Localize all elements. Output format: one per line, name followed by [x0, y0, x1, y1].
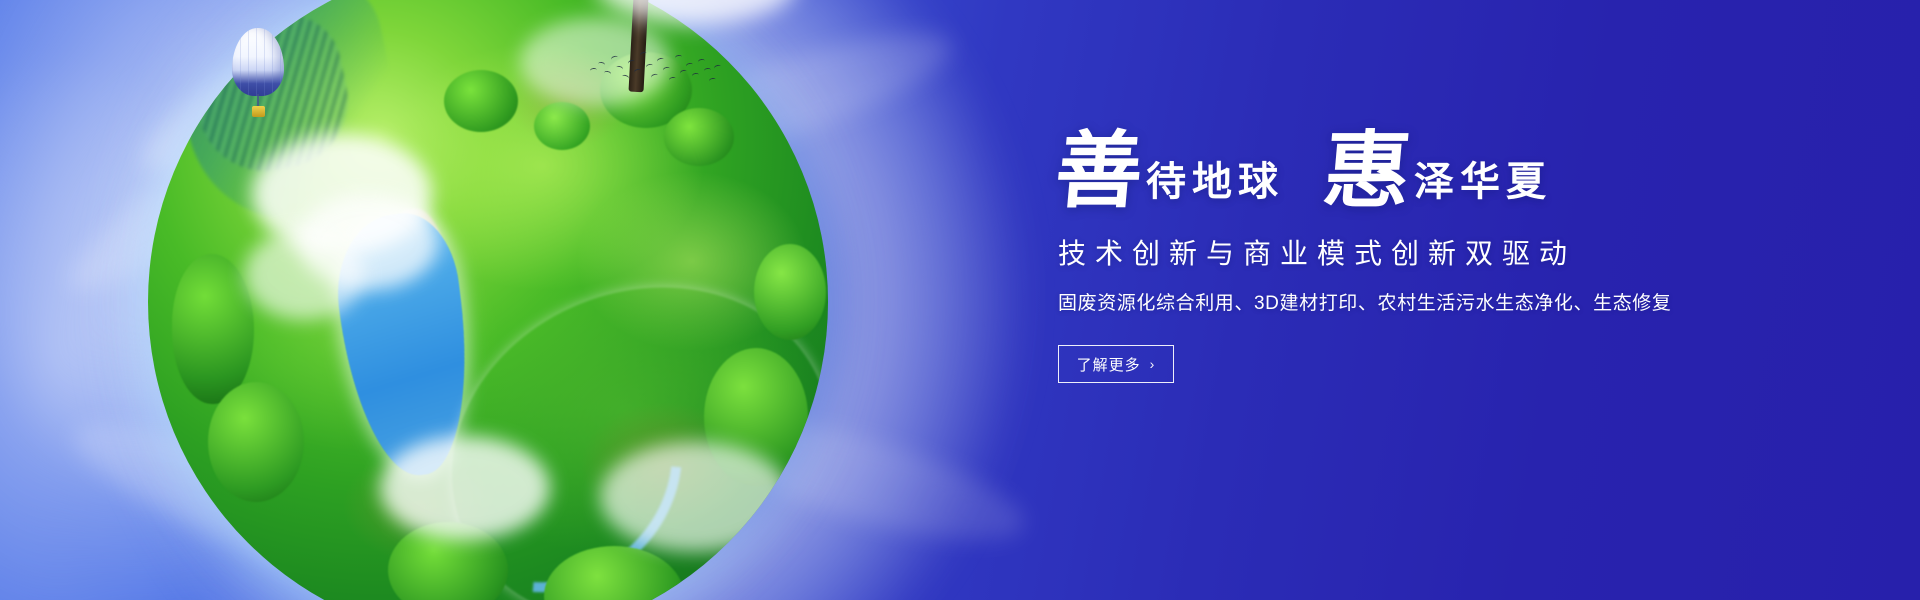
learn-more-label: 了解更多: [1077, 354, 1141, 375]
chevron-right-icon: ›: [1150, 357, 1156, 371]
mountain-range: [162, 0, 415, 235]
bird-icon: [713, 64, 721, 71]
balloon-envelope: [232, 28, 284, 96]
bird-icon: [598, 61, 606, 67]
bird-icon: [656, 57, 664, 64]
cloud-streak: [695, 396, 1034, 564]
headline-group-1: 善 待地球: [1058, 132, 1284, 211]
globe-glow: [88, 0, 888, 600]
river-branch: [367, 280, 735, 600]
cloud: [298, 194, 438, 290]
cloud: [600, 442, 790, 552]
bird-icon: [692, 72, 700, 78]
cloud-streak: [154, 329, 446, 534]
bird-icon: [645, 63, 653, 70]
bird-icon: [610, 55, 618, 62]
hero-banner: 善 待地球 惠 泽华夏 技术创新与商业模式创新双驱动 固废资源化综合利用、3D建…: [0, 0, 1920, 600]
bird-icon: [669, 76, 677, 82]
tree-canopy: [754, 244, 826, 340]
bird-icon: [604, 70, 612, 76]
bird-icon: [650, 73, 658, 80]
bird-icon: [621, 74, 629, 81]
bird-icon: [709, 77, 717, 83]
tree-canopy: [444, 70, 518, 132]
hero-content: 善 待地球 惠 泽华夏 技术创新与商业模式创新双驱动 固废资源化综合利用、3D建…: [1058, 132, 1818, 383]
cloud: [244, 230, 364, 320]
headline-lead-char: 惠: [1320, 131, 1414, 211]
cloud-streak: [123, 0, 536, 203]
tree-canopy: [544, 546, 684, 600]
bird-icon: [639, 51, 647, 58]
bird-icon: [685, 62, 693, 69]
bird-icon: [675, 54, 683, 60]
headline-group-2: 惠 泽华夏: [1326, 132, 1552, 211]
hero-description: 固废资源化综合利用、3D建材打印、农村生活污水生态净化、生态修复: [1058, 292, 1818, 317]
hot-air-balloon: [232, 28, 284, 120]
headline-rest-chars: 待地球: [1146, 162, 1284, 202]
bird-icon: [627, 59, 635, 66]
bird-flock: [588, 44, 718, 90]
bird-icon: [662, 66, 670, 73]
bird-icon: [679, 69, 687, 76]
balloon-basket: [252, 106, 265, 117]
headline-lead-char: 善: [1052, 131, 1146, 211]
bird-icon: [615, 65, 623, 72]
river: [401, 232, 828, 600]
cloud-halo: [60, 0, 1060, 600]
tree-canopy: [208, 382, 304, 502]
lake-shore: [385, 206, 469, 461]
tree-canopy: [388, 522, 508, 600]
tree-canopy: [534, 102, 590, 150]
headline-rest-chars: 泽华夏: [1414, 162, 1552, 202]
bird-icon: [633, 68, 641, 75]
page-title: 善 待地球 惠 泽华夏: [1058, 132, 1818, 211]
cloud-streak: [59, 394, 481, 600]
cloud: [596, 0, 796, 24]
hero-subtitle: 技术创新与商业模式创新双驱动: [1058, 237, 1818, 271]
bird-icon: [698, 58, 706, 64]
tree-canopy: [172, 254, 254, 404]
tree-canopy: [704, 348, 808, 486]
learn-more-button[interactable]: 了解更多 ›: [1058, 345, 1174, 383]
tree-canopy: [664, 108, 734, 166]
cloud: [380, 436, 550, 540]
bird-icon: [704, 68, 712, 74]
lake: [328, 208, 481, 483]
bird-icon: [590, 68, 597, 74]
cloud-streak: [617, 9, 963, 184]
cloud-streak: [51, 55, 389, 314]
sky-wash: [0, 0, 1100, 600]
cloud: [252, 134, 432, 254]
